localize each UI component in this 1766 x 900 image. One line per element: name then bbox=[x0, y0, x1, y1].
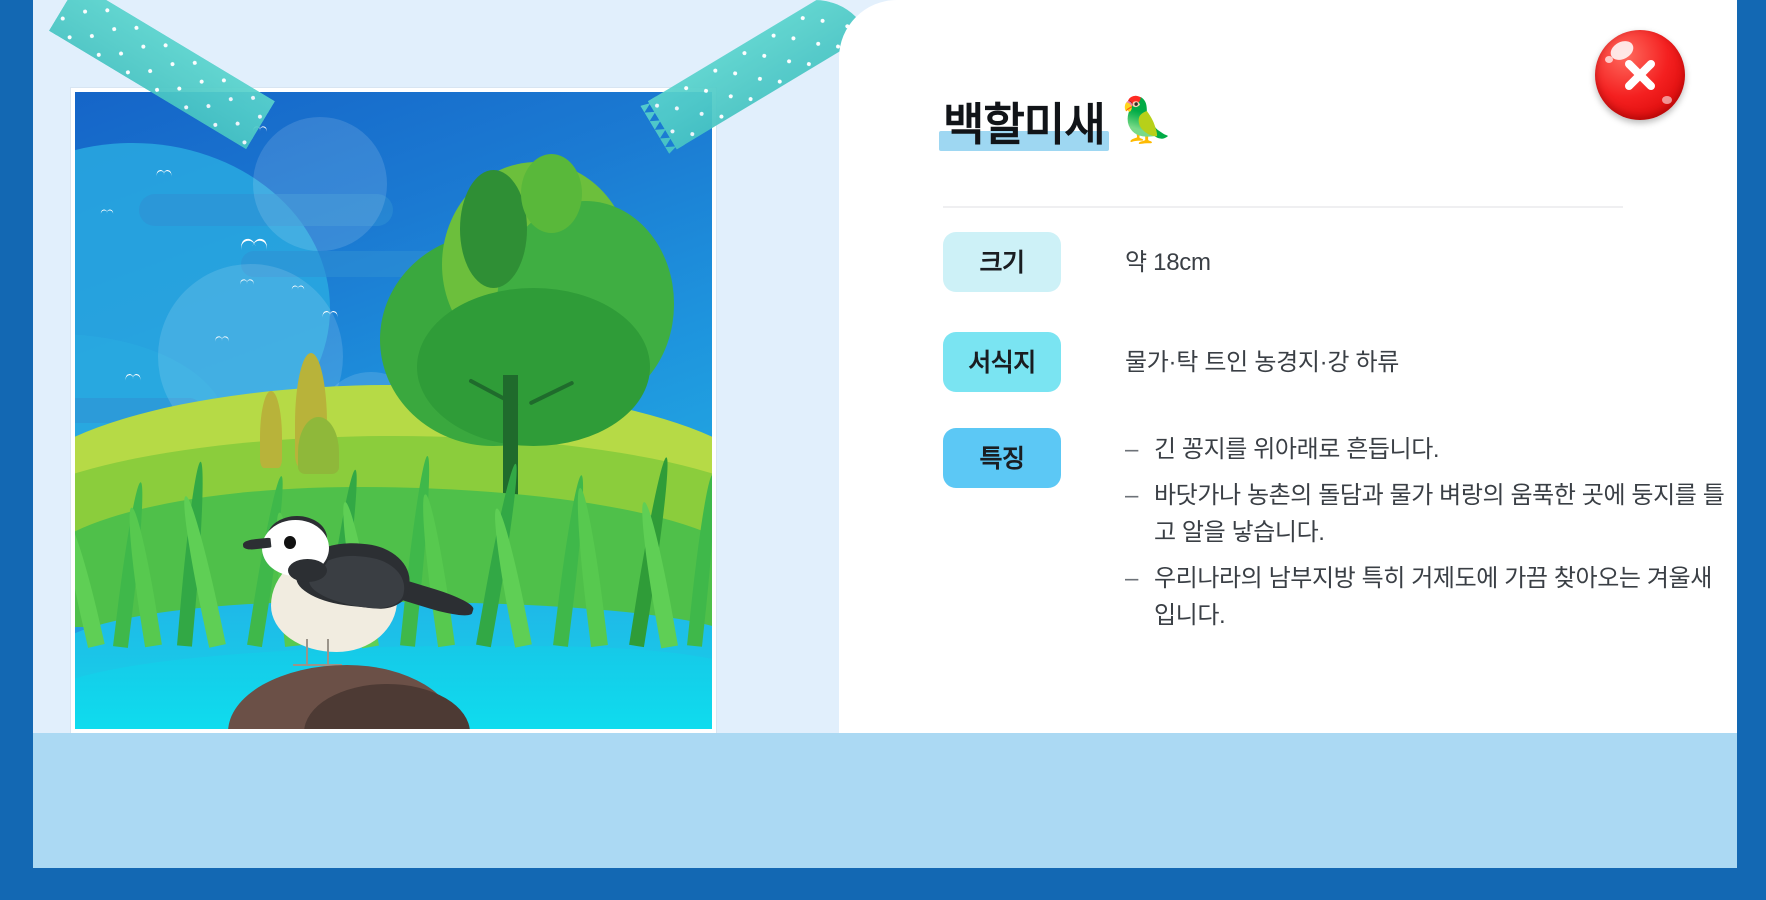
bullet-dash: – bbox=[1125, 432, 1138, 468]
tree-canopy bbox=[521, 154, 582, 233]
tree-canopy bbox=[460, 170, 527, 288]
footer-strip bbox=[33, 733, 1737, 868]
bird-leg bbox=[306, 639, 308, 665]
list-item: – 긴 꽁지를 위아래로 흔듭니다. bbox=[1125, 432, 1725, 468]
list-item: – 우리나라의 남부지방 특히 거제도에 가끔 찾아오는 겨울새입니다. bbox=[1125, 561, 1725, 634]
tree-canopy bbox=[417, 288, 649, 446]
close-x-icon bbox=[1617, 52, 1663, 98]
bullet-dash: – bbox=[1125, 561, 1138, 634]
bird-eye bbox=[284, 536, 296, 549]
tape-edge bbox=[41, 0, 78, 31]
badge-feature: 특징 bbox=[943, 428, 1061, 488]
content-stage: 백할미새 🦜 크기 약 18cm 서식지 물가·탁 트인 농경지·강 하류 특징 bbox=[33, 0, 1737, 868]
badge-size: 크기 bbox=[943, 232, 1061, 292]
parrot-icon: 🦜 bbox=[1119, 99, 1174, 143]
flying-bird bbox=[157, 170, 173, 176]
title-wrap: 백할미새 bbox=[943, 88, 1105, 153]
feature-list: – 긴 꽁지를 위아래로 흔듭니다. – 바닷가나 농촌의 돌담과 물가 벼랑의… bbox=[1125, 428, 1725, 644]
value-size: 약 18cm bbox=[1125, 232, 1211, 281]
value-habitat: 물가·탁 트인 농경지·강 하류 bbox=[1125, 332, 1399, 381]
feature-text: 바닷가나 농촌의 돌담과 물가 벼랑의 움푹한 곳에 둥지를 틀고 알을 낳습니… bbox=[1154, 478, 1725, 551]
flying-bird bbox=[125, 374, 141, 380]
badge-habitat: 서식지 bbox=[943, 332, 1061, 392]
flying-bird bbox=[101, 209, 114, 214]
bird-illustration bbox=[75, 92, 712, 729]
tree bbox=[374, 130, 680, 525]
title-divider bbox=[943, 206, 1623, 208]
app-window: 백할미새 🦜 크기 약 18cm 서식지 물가·탁 트인 농경지·강 하류 특징 bbox=[0, 0, 1766, 900]
bokeh-circle bbox=[253, 117, 387, 251]
feature-text: 우리나라의 남부지방 특히 거제도에 가끔 찾아오는 겨울새입니다. bbox=[1154, 561, 1725, 634]
close-button[interactable] bbox=[1595, 30, 1685, 120]
info-row-size: 크기 약 18cm bbox=[943, 232, 1211, 292]
bird-leg bbox=[327, 639, 329, 665]
flying-bird bbox=[322, 311, 338, 317]
photo-frame bbox=[71, 88, 716, 733]
wagtail-bird bbox=[241, 500, 458, 666]
title-row: 백할미새 🦜 bbox=[943, 88, 1173, 153]
page-title: 백할미새 bbox=[943, 99, 1105, 150]
flying-bird bbox=[215, 336, 229, 342]
info-card: 백할미새 🦜 크기 약 18cm 서식지 물가·탁 트인 농경지·강 하류 특징 bbox=[839, 0, 1737, 733]
flying-bird bbox=[240, 279, 254, 285]
feature-text: 긴 꽁지를 위아래로 흔듭니다. bbox=[1154, 432, 1725, 468]
flying-bird bbox=[240, 238, 267, 249]
info-row-feature: 특징 – 긴 꽁지를 위아래로 흔듭니다. – 바닷가나 농촌의 돌담과 물가 … bbox=[943, 428, 1725, 644]
list-item: – 바닷가나 농촌의 돌담과 물가 벼랑의 움푹한 곳에 둥지를 틀고 알을 낳… bbox=[1125, 478, 1725, 551]
bullet-dash: – bbox=[1125, 478, 1138, 551]
gloss-highlight bbox=[1662, 96, 1672, 104]
flying-bird bbox=[292, 286, 305, 291]
info-row-habitat: 서식지 물가·탁 트인 농경지·강 하류 bbox=[943, 332, 1399, 392]
gloss-highlight bbox=[1605, 56, 1613, 63]
photo-panel bbox=[33, 0, 873, 733]
